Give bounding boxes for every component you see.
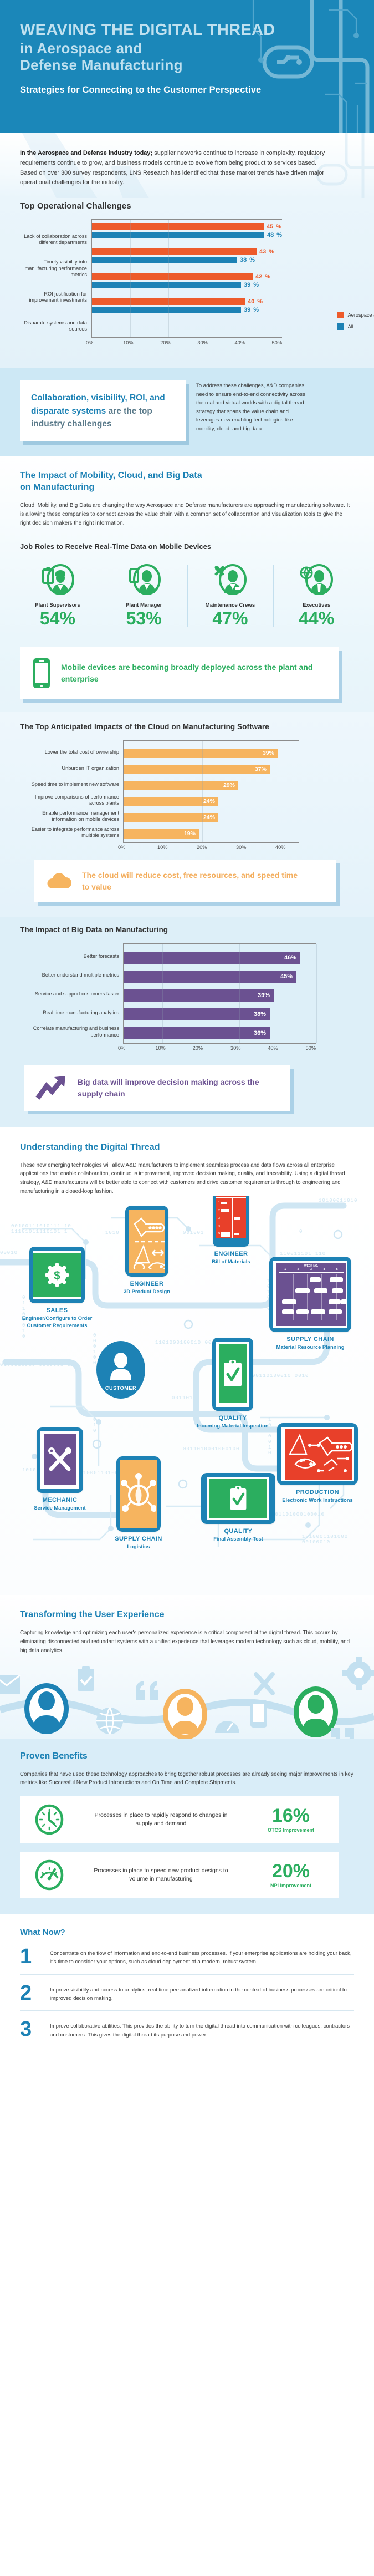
callout-card-challenges: Collaboration, visibility, ROI, and disp… [20,380,186,441]
clipboard-check-icon [228,1485,248,1512]
chart1: Lack of collaboration across different d… [20,219,354,357]
chart1-cat-2: ROI justification for improvement invest… [20,283,91,312]
proven-benefits-section: Proven Benefits Companies that have used… [0,1739,374,1914]
intro-paragraph: In the Aerospace and Defense industry to… [20,149,330,188]
binary-decoration-14: 0011010001000100 [183,1446,239,1452]
chart3-cat-1: Better understand multiple metrics [20,966,123,985]
benefit-card-otcs: Processes in place to rapidly respond to… [20,1796,339,1843]
role-card-maintenance-crews: Maintenance Crews 47% [187,562,274,631]
chart3-bar-0: 46% [124,948,316,967]
what-now-separator-1 [20,1974,354,1975]
what-now-section: What Now? 1 Concentrate on the flow of i… [0,1914,374,2056]
node-supply-chain-logistics-screen [120,1460,157,1528]
digital-thread-body: These new emerging technologies will all… [20,1161,354,1196]
digital-thread-diagram: 00100111010111 1011101011110101 1 1010 0… [0,1196,374,1595]
chart3-bar-1: 45% [124,967,316,986]
node-sales-device: $ [29,1247,85,1303]
node-quality-incoming-role: QUALITY [194,1415,271,1421]
chart2-val-4: 24% [203,814,218,821]
chart1-bar-all-3: 39% [92,307,282,313]
chart1-bar-all-1: 38% [92,257,282,263]
chart3-title: The Impact of Big Data on Manufacturing [20,926,354,934]
benefit-icon-1 [29,1859,70,1891]
title-line-1: WEAVING THE DIGITAL THREAD [20,21,275,39]
legend-item-all: All [337,323,374,330]
chart3-bar-2: 39% [124,986,316,1005]
callout-cloud-text: The cloud will reduce cost, free resourc… [82,870,304,893]
chart1-cat-1: Timely visibility into manufacturing per… [20,254,91,283]
what-now-text-1: Concentrate on the flow of information a… [50,1947,354,1967]
role-pct-3: 44% [274,609,358,628]
node-supply-chain-mrp-desc: Material Resource Planning [266,1344,355,1350]
aircraft-design-icon [132,1214,165,1269]
node-engineer-bom[interactable]: ITEM NO. QTY 1 2 3 4 5 [195,1196,267,1265]
phone-icon-ux [250,1700,267,1728]
what-now-text-2: Improve visibility and access to analyti… [50,1984,354,2003]
node-production-desc: Electronic Work Instructions [277,1497,358,1503]
job-roles-cards: Plant Supervisors 54% Plant Manager 53% [0,555,374,638]
chart2-val-5: 19% [184,830,199,837]
chart1-bar-all-2: 39% [92,282,282,288]
what-now-separator-2 [20,2010,354,2011]
chart3-cat-2: Service and support customers faster [20,985,123,1004]
node-supply-chain-logistics-role: SUPPLY CHAIN [100,1536,177,1542]
chart1-bar-ad-1: 43% [92,248,282,255]
mobility-heading-l2: on Manufacturing [20,482,94,492]
ux-body: Capturing knowledge and optimizing each … [20,1629,354,1655]
global-network-icon [121,1473,156,1515]
quote-open-icon [136,1681,158,1700]
gantt-week-2: 3 [310,1268,312,1271]
what-now-heading: What Now? [20,1927,354,1938]
node-engineer-bom-desc: Bill of Materials [195,1258,267,1265]
avatar-blue-icon [24,1683,69,1734]
chart2-val-1: 37% [255,766,270,773]
benefit-card-npi: Processes in place to speed new product … [20,1852,339,1898]
envelope-icon [0,1675,20,1694]
circuit-decoration-icon [247,0,374,133]
node-supply-chain-logistics-device [116,1456,161,1532]
node-supply-chain-mrp-device: WEEK NO. 1 2 3 4 5 [269,1257,351,1332]
chart2-bar-5: 19% [124,826,299,842]
hammer-wrench-icon [45,1445,74,1475]
node-quality-incoming-desc: Incoming Material Inspection [194,1422,271,1429]
binary-decoration-6: 0 [299,1229,303,1234]
chart2-bar-4: 24% [124,810,299,826]
bom-row-1: 2 [217,1209,221,1212]
chart1-val-ad-2: 42 [255,273,262,280]
callout-mobile-text: Mobile devices are becoming broadly depl… [61,662,316,685]
node-sales-desc: Engineer/Configure to Order Customer Req… [21,1315,93,1328]
clock-icon [34,1804,65,1835]
role-pct-0: 54% [16,609,100,628]
bom-row-2: 3 [217,1217,221,1220]
intro-section: In the Aerospace and Defense industry to… [0,133,374,198]
bom-row-3: 4 [217,1225,221,1228]
node-mechanic-device [37,1427,83,1493]
intro-lead: In the Aerospace and Defense industry to… [20,150,152,156]
gantt-schedule-icon [279,1274,347,1320]
role-card-executives: Executives 44% [273,562,360,631]
avatar-orange-icon [163,1689,207,1739]
benefit-value-block-1: 20% NPI Improvement [252,1862,330,1888]
chart3-xtick-0: 0% [118,1045,155,1051]
role-name-3: Executives [274,602,358,608]
node-mechanic-desc: Service Management [21,1505,99,1511]
mobile-callout-section: Mobile devices are becoming broadly depl… [0,638,374,712]
node-quality-final[interactable]: QUALITY Final Assembly Test [199,1473,277,1542]
node-engineer-design-screen [129,1210,165,1273]
legend-swatch-aerospace [337,312,344,318]
bigdata-impact-section: The Impact of Big Data on Manufacturing … [0,917,374,1056]
chart1-val-ad-1: 43 [259,248,266,255]
node-engineer-design[interactable]: ENGINEER 3D Product Design [111,1206,183,1295]
operational-challenges-section: Top Operational Challenges Lack of colla… [0,198,374,368]
node-production-device [277,1423,358,1485]
speedometer-icon [34,1859,65,1891]
callout-card-mobile: Mobile devices are becoming broadly depl… [20,647,339,699]
page-header: WEAVING THE DIGITAL THREAD in Aerospace … [0,0,374,133]
customer-person-icon [108,1351,134,1382]
chart2-bar-1: 37% [124,761,299,778]
node-engineer-bom-role: ENGINEER [195,1251,267,1257]
legend-label-aerospace: Aerospace & Defense [348,312,374,318]
benefits-body: Companies that have used these technolog… [20,1770,354,1788]
chart3-val-2: 39% [258,992,274,999]
node-mechanic-screen [40,1431,79,1489]
clipboard-check-icon [222,1359,244,1389]
node-supply-chain-logistics-desc: Logistics [100,1543,177,1550]
node-mechanic-role: MECHANIC [21,1497,99,1503]
chart3-cat-4: Correlate manufacturing and business per… [20,1023,123,1041]
binary-decoration-1: 00100111010111 1011101011110101 1 [11,1223,71,1234]
mobility-body: Cloud, Mobility, and Big Data are changi… [20,501,354,529]
role-name-0: Plant Supervisors [16,602,100,608]
legend-item-aerospace: Aerospace & Defense [337,312,374,318]
gantt-week-3: 4 [323,1268,325,1271]
chart3-val-0: 46% [284,954,300,961]
chart2-x-axis: 0% 10% 20% 30% 40% [123,845,299,850]
chart1-val-all-1: 38 [240,257,247,263]
mobility-heading: The Impact of Mobility, Cloud, and Big D… [20,470,354,494]
chart3-xtick-1: 10% [155,1045,192,1051]
chart2-category-labels: Lower the total cost of ownership Unburd… [20,740,123,850]
chart1-xtick-5: 50% [272,340,282,346]
chart3-x-axis: 0% 10% 20% 30% 40% 50% [123,1045,316,1051]
node-quality-incoming-device [212,1338,253,1411]
bigdata-callout-section: Big data will improve decision making ac… [0,1056,374,1127]
callout-highlight-1: Collaboration, visibility, ROI, [31,393,147,403]
node-engineer-bom-device: ITEM NO. QTY 1 2 3 4 5 [213,1196,249,1247]
benefit-divider-right-1 [244,1862,244,1888]
callout-challenges-text: Collaboration, visibility, ROI, and disp… [31,392,176,430]
gantt-week-4: 5 [336,1268,338,1271]
chart1-val-all-0: 48 [267,232,274,238]
chart1-val-ad-0: 45 [267,223,273,230]
chart3-xtick-2: 20% [193,1045,230,1051]
chart3-bar-3: 38% [124,1005,316,1024]
chart1-xtick-0: 0% [86,340,123,346]
chart1-legend: Aerospace & Defense All [337,312,374,335]
node-quality-final-device [201,1473,275,1524]
what-now-number-2: 2 [20,1984,50,2003]
benefits-heading: Proven Benefits [20,1751,354,1762]
executive-globe-icon [299,564,334,596]
node-supply-chain-logistics[interactable]: SUPPLY CHAIN Logistics [100,1456,177,1550]
digital-thread-heading: Understanding the Digital Thread [20,1142,354,1154]
ux-heading: Transforming the User Experience [20,1609,354,1621]
chart2-xtick-2: 20% [197,845,236,850]
chart1-x-axis: 0% 10% 20% 30% 40% 50% [91,340,282,346]
chart2-xtick-4: 40% [275,845,285,850]
chart3-category-labels: Better forecasts Better understand multi… [20,943,123,1051]
maintenance-wrench-icon [213,564,247,596]
gantt-week-0: 1 [284,1268,286,1271]
user-experience-section: Transforming the User Experience Capturi… [0,1595,374,1738]
chart1-cat-3: Disparate systems and data sources [20,312,91,341]
customer-circle: CUSTOMER [96,1341,145,1399]
legend-swatch-all [337,323,344,330]
chart1-title: Top Operational Challenges [20,201,354,211]
chart1-bar-ad-3: 40% [92,298,282,305]
svg-text:$: $ [54,1269,60,1282]
chart1-xtick-1: 10% [123,340,160,346]
assembly-instructions-icon [288,1432,354,1477]
node-quality-final-desc: Final Assembly Test [199,1536,277,1542]
node-engineer-bom-screen: ITEM NO. QTY 1 2 3 4 5 [216,1196,246,1238]
node-production[interactable]: PRODUCTION Electronic Work Instructions [277,1423,358,1503]
binary-decoration-7: 110011101 110 [280,1251,326,1257]
benefit-divider-left-1 [78,1862,78,1888]
chart1-val-ad-3: 40 [248,298,254,305]
speedometer-icon-ux [215,1721,239,1733]
chart3-bar-4: 36% [124,1024,316,1043]
dollar-badge-icon: $ [45,1263,69,1287]
mobility-cloud-bigdata-section: The Impact of Mobility, Cloud, and Big D… [0,456,374,555]
chart2-val-0: 39% [263,750,278,756]
chart1-bar-ad-2: 42% [92,273,282,280]
bom-row-0: 1 [217,1201,221,1205]
chart2-cat-0: Lower the total cost of ownership [20,744,123,760]
customer-label: CUSTOMER [105,1385,136,1391]
chart2-xtick-0: 0% [118,845,157,850]
bom-header-1: QTY [233,1196,246,1197]
benefit-text-1: Processes in place to speed new product … [86,1867,236,1884]
ux-avatar-band [0,1655,374,1739]
node-supply-chain-mrp-role: SUPPLY CHAIN [266,1336,355,1343]
chart1-category-labels: Lack of collaboration across different d… [20,219,91,357]
node-mechanic[interactable]: MECHANIC Service Management [21,1427,99,1511]
what-now-number-3: 3 [20,2020,50,2039]
what-now-item-3: 3 Improve collaborative abilities. This … [20,2020,354,2039]
benefit-icon-0 [29,1804,70,1835]
role-pct-2: 47% [188,609,273,628]
binary-decoration-8: 0100011010 0010001 0 [0,1362,71,1368]
chart3-xtick-3: 30% [230,1045,268,1051]
challenges-callout-section: Collaboration, visibility, ROI, and disp… [0,368,374,456]
chart2-xtick-3: 30% [236,845,275,850]
chart1-cat-0: Lack of collaboration across different d… [20,225,91,254]
benefit-value-block-0: 16% OTCS Improvement [252,1806,330,1833]
bom-header-0: ITEM NO. [216,1196,233,1197]
legend-label-all: All [348,324,353,329]
chart3-cat-3: Real time manufacturing analytics [20,1004,123,1023]
role-card-plant-supervisors: Plant Supervisors 54% [14,562,101,631]
benefit-number-0: 16% [252,1806,330,1825]
digital-thread-section: Understanding the Digital Thread These n… [0,1127,374,1596]
chart1-xtick-4: 40% [235,340,272,346]
clipboard-icon-ux [78,1666,94,1691]
benefit-divider-right-0 [244,1806,244,1833]
node-production-role: PRODUCTION [277,1489,358,1496]
node-quality-final-screen [207,1477,269,1520]
what-now-number-1: 1 [20,1947,50,1966]
infographic-page: WEAVING THE DIGITAL THREAD in Aerospace … [0,0,374,2056]
chart2-bar-3: 24% [124,794,299,810]
role-card-plant-manager: Plant Manager 53% [101,562,187,631]
mobile-phone-icon [31,657,52,690]
chart2-xtick-1: 10% [157,845,197,850]
chart2-cat-5: Easier to integrate performance across m… [20,825,123,841]
chart2-cat-1: Unburden IT organization [20,760,123,776]
chart2-cat-2: Speed time to implement new software [20,776,123,792]
chart3-val-4: 36% [254,1030,270,1037]
binary-decoration-16: 101000110100000100010 [302,1534,348,1545]
node-supply-chain-mrp[interactable]: WEEK NO. 1 2 3 4 5 [266,1257,355,1350]
chart3-val-1: 45% [280,973,296,980]
chart1-xtick-3: 30% [197,340,234,346]
chart3-val-3: 38% [254,1011,270,1018]
chart2-title: The Top Anticipated Impacts of the Cloud… [20,723,354,731]
node-engineer-design-desc: 3D Product Design [111,1288,183,1295]
mobility-heading-l1: The Impact of Mobility, Cloud, and Big D… [20,471,202,480]
bom-row-4: 5 [217,1232,221,1236]
cloud-icon [45,870,73,892]
node-sales-role: SALES [21,1307,93,1314]
benefit-number-1: 20% [252,1862,330,1881]
node-sales[interactable]: $ SALES Engineer/Configure to Order Cust… [21,1247,93,1328]
chart2-cat-4: Enable performance management informatio… [20,809,123,825]
cloud-impacts-section: The Top Anticipated Impacts of the Cloud… [0,712,374,917]
quote-close-icon [331,1728,354,1739]
node-quality-incoming[interactable]: QUALITY Incoming Material Inspection [194,1338,271,1429]
manager-phone-icon [127,564,161,596]
callout-card-cloud: The cloud will reduce cost, free resourc… [34,860,336,902]
callout-side-text: To address these challenges, A&D compani… [196,380,307,441]
chart1-xtick-2: 20% [160,340,197,346]
ux-illustration [0,1655,374,1739]
callout-bigdata-text: Big data will improve decision making ac… [78,1076,260,1100]
benefit-text-0: Processes in place to rapidly respond to… [86,1811,236,1829]
node-engineer-design-device [125,1206,168,1277]
globe-icon-ux [96,1708,123,1734]
binary-decoration-15: 001101000100010 [271,1512,325,1517]
benefit-caption-0: OTCS Improvement [252,1827,330,1833]
what-now-item-1: 1 Concentrate on the flow of information… [20,1947,354,1967]
node-supply-chain-mrp-screen: WEEK NO. 1 2 3 4 5 [273,1261,347,1328]
node-engineer-design-role: ENGINEER [111,1281,183,1287]
chart2-val-3: 24% [203,798,218,805]
what-now-text-3: Improve collaborative abilities. This pr… [50,2020,354,2039]
node-quality-final-role: QUALITY [199,1528,277,1535]
chart1-bar-all-0: 48% [92,232,282,238]
binary-decoration-4: 10100011010 [319,1198,357,1203]
chart3-xtick-4: 40% [268,1045,305,1051]
chart3-xtick-5: 50% [306,1045,316,1051]
chart2-bar-0: 39% [124,745,299,761]
role-name-1: Plant Manager [102,602,186,608]
what-now-item-2: 2 Improve visibility and access to analy… [20,1984,354,2003]
gantt-week-1: 2 [298,1268,299,1271]
chart2-val-2: 29% [223,782,238,789]
tools-icon-ux [256,1674,273,1693]
node-customer[interactable]: CUSTOMER [96,1341,145,1399]
benefit-divider-left-0 [78,1806,78,1833]
benefit-caption-1: NPI Improvement [252,1883,330,1888]
node-quality-incoming-screen [216,1342,249,1407]
chart1-bar-ad-0: 45% [92,223,282,230]
node-production-screen [281,1427,354,1481]
role-pct-1: 53% [102,609,186,628]
job-roles-subheading: Job Roles to Receive Real-Time Data on M… [20,542,354,551]
supervisor-clipboard-icon [40,564,75,596]
gear-icon-ux [342,1657,374,1690]
chart2-cat-3: Improve comparisons of performance acros… [20,792,123,809]
binary-decoration-5: 00010 [0,1250,18,1256]
node-sales-screen: $ [33,1251,81,1299]
chart3-cat-0: Better forecasts [20,947,123,966]
callout-card-bigdata: Big data will improve decision making ac… [24,1065,290,1111]
trend-arrow-up-icon [35,1075,69,1101]
chart2-bar-2: 29% [124,778,299,794]
role-name-2: Maintenance Crews [188,602,273,608]
